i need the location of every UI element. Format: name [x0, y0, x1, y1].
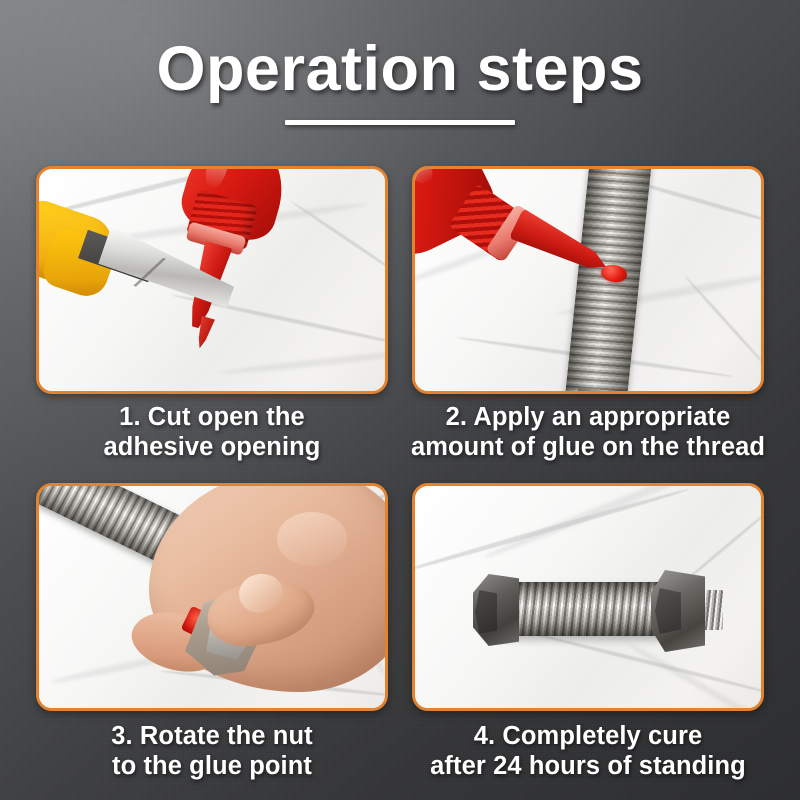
step-caption-1: 1. Cut open the adhesive opening: [36, 403, 388, 462]
title-divider: [285, 120, 515, 125]
step-caption-3: 3. Rotate the nut to the glue point: [36, 722, 388, 781]
knuckle-highlight: [277, 512, 347, 566]
step-card-1: 1. Cut open the adhesive opening: [36, 166, 388, 462]
step-card-2: 2. Apply an appropriate amount of glue o…: [412, 166, 764, 462]
hex-nut-face: [655, 588, 681, 634]
step-photo-1: [36, 166, 388, 394]
bolt-head-face: [475, 590, 497, 634]
bolt-shaft-icon: [499, 582, 669, 636]
step-caption-4: 4. Completely cure after 24 hours of sta…: [394, 722, 782, 781]
step-card-4: 4. Completely cure after 24 hours of sta…: [412, 483, 764, 781]
step-caption-2: 2. Apply an appropriate amount of glue o…: [394, 403, 782, 462]
page-title: Operation steps: [0, 36, 800, 102]
step-card-3: 3. Rotate the nut to the glue point: [36, 483, 388, 781]
step-photo-2: [412, 166, 764, 394]
step-photo-4: [412, 483, 764, 711]
steps-grid: 1. Cut open the adhesive opening: [36, 166, 764, 786]
step-photo-3: [36, 483, 388, 711]
infographic-page: Operation steps: [0, 0, 800, 800]
